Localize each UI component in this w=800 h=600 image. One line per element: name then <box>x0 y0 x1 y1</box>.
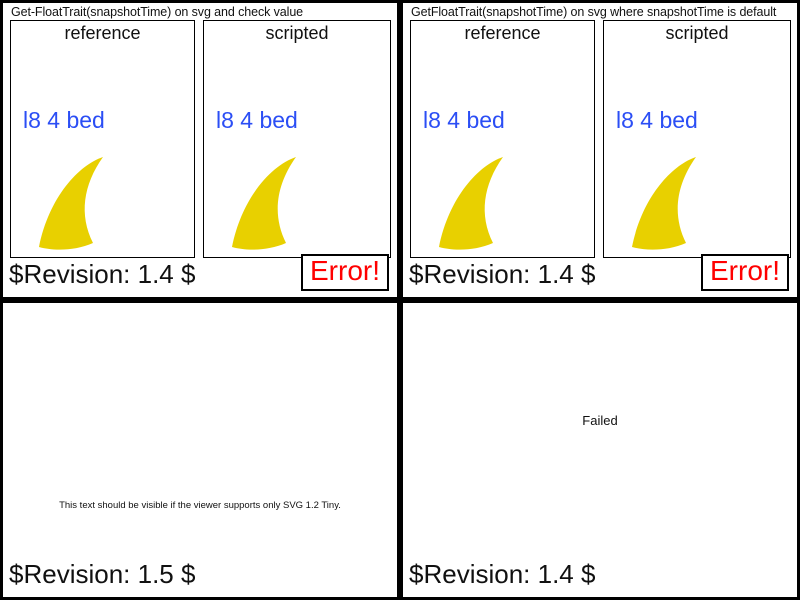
tiny-support-note: This text should be visible if the viewe… <box>3 500 397 511</box>
quadrant-bottom-left: This text should be visible if the viewe… <box>0 300 400 600</box>
crescent-moon-icon <box>614 151 754 258</box>
scripted-trait-text: l8 4 bed <box>216 107 298 134</box>
reference-trait-text: l8 4 bed <box>423 107 505 134</box>
quadrant-bottom-right: Failed $Revision: 1.4 $ <box>400 300 800 600</box>
status-badge-label: Error! <box>310 256 380 286</box>
scripted-panel-label: scripted <box>204 23 390 44</box>
reference-panel: reference l8 4 bed <box>10 20 195 258</box>
scripted-trait-text: l8 4 bed <box>616 107 698 134</box>
reference-panel-label: reference <box>411 23 594 44</box>
quadrant-top-right: GetFloatTrait(snapshotTime) on svg where… <box>400 0 800 300</box>
scripted-panel-label: scripted <box>604 23 790 44</box>
crescent-moon-icon <box>214 151 354 258</box>
svg-test-suite-grid: Get-FloatTrait(snapshotTime) on svg and … <box>0 0 800 600</box>
test-title: GetFloatTrait(snapshotTime) on svg where… <box>411 5 776 19</box>
crescent-moon-icon <box>21 151 161 258</box>
reference-panel: reference l8 4 bed <box>410 20 595 258</box>
revision-label: $Revision: 1.4 $ <box>409 559 595 590</box>
failed-status-text: Failed <box>403 413 797 428</box>
status-badge: Error! <box>701 254 789 291</box>
revision-label: $Revision: 1.4 $ <box>409 259 595 290</box>
status-badge-label: Error! <box>710 256 780 286</box>
scripted-panel: scripted l8 4 bed <box>603 20 791 258</box>
reference-panel-label: reference <box>11 23 194 44</box>
revision-label: $Revision: 1.4 $ <box>9 259 195 290</box>
scripted-panel: scripted l8 4 bed <box>203 20 391 258</box>
test-title: Get-FloatTrait(snapshotTime) on svg and … <box>11 5 303 19</box>
reference-trait-text: l8 4 bed <box>23 107 105 134</box>
quadrant-top-left: Get-FloatTrait(snapshotTime) on svg and … <box>0 0 400 300</box>
crescent-moon-icon <box>421 151 561 258</box>
revision-label: $Revision: 1.5 $ <box>9 559 195 590</box>
status-badge: Error! <box>301 254 389 291</box>
